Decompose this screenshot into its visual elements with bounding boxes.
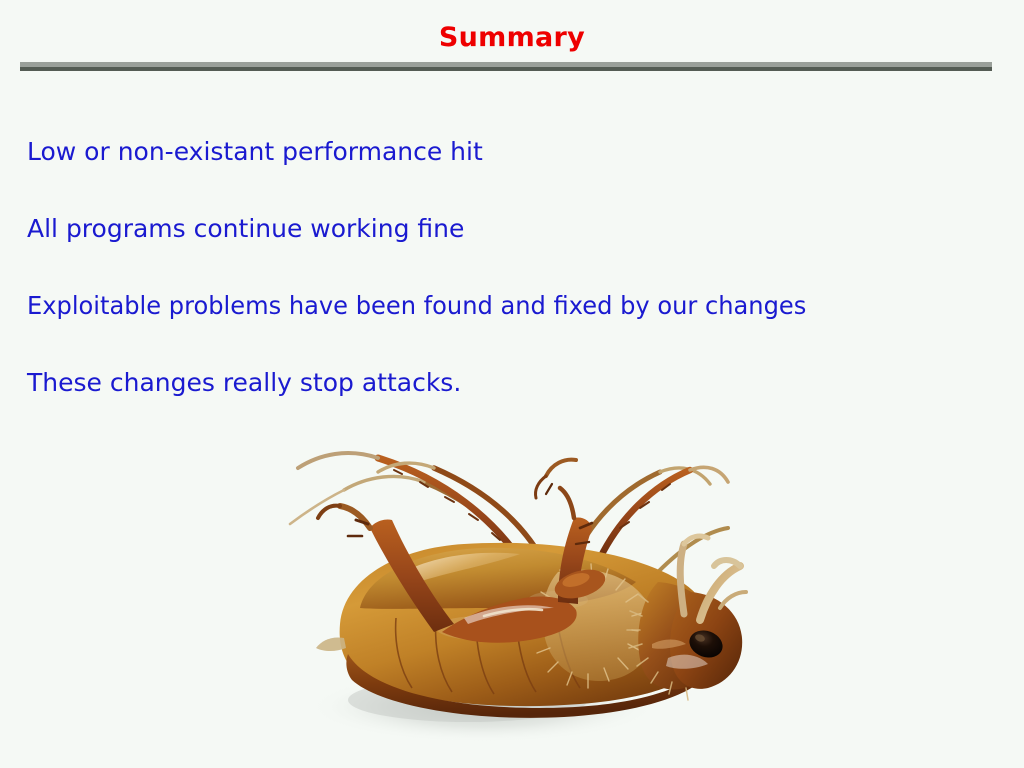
- body-line-2: All programs continue working fine: [27, 190, 987, 267]
- slide-canvas: Summary Low or non-existant performance …: [0, 0, 1024, 768]
- beetle-illustration: [228, 432, 748, 752]
- body-line-3: Exploitable problems have been found and…: [27, 267, 953, 344]
- beetle-leg-rear: [316, 637, 346, 651]
- divider-bar-bottom: [20, 67, 992, 71]
- body-line-4: These changes really stop attacks.: [27, 344, 987, 421]
- body-text-block: Low or non-existant performance hit All …: [27, 113, 987, 421]
- beetle-photo: [228, 432, 748, 752]
- title-area: Summary: [0, 24, 1024, 51]
- body-line-1: Low or non-existant performance hit: [27, 113, 987, 190]
- page-title: Summary: [439, 24, 585, 51]
- title-divider: [20, 62, 992, 71]
